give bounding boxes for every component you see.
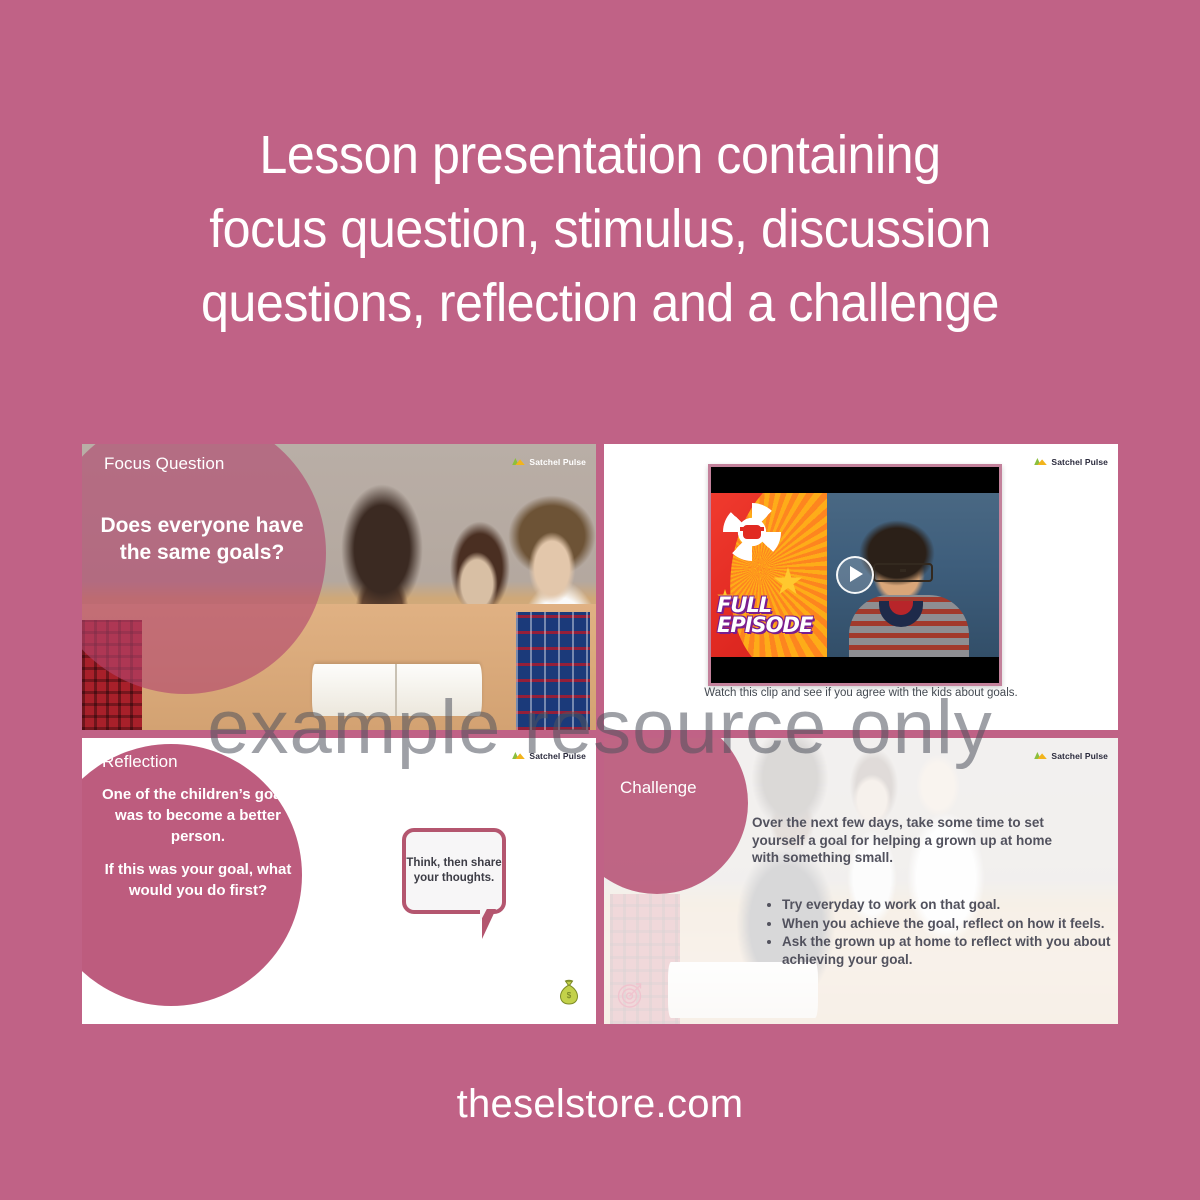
video-player[interactable]: FULL EPISODE bbox=[708, 464, 1002, 686]
footer-website-url: theselstore.com bbox=[0, 1082, 1200, 1127]
satchel-pulse-logo: Satchel Pulse bbox=[512, 747, 586, 765]
page-title: Lesson presentation containing focus que… bbox=[98, 118, 1102, 340]
satchel-pulse-logo: Satchel Pulse bbox=[1034, 747, 1108, 765]
speech-bubble-tail bbox=[482, 909, 496, 939]
letterbox-bottom bbox=[711, 657, 999, 683]
challenge-bullet-2: When you achieve the goal, reflect on ho… bbox=[782, 915, 1112, 933]
full-episode-badge: FULL EPISODE bbox=[711, 493, 827, 657]
challenge-bullet-3: Ask the grown up at home to reflect with… bbox=[782, 933, 1112, 968]
page-title-line-1: Lesson presentation containing bbox=[98, 118, 1102, 192]
satchel-pulse-logo: Satchel Pulse bbox=[1034, 453, 1108, 471]
reflection-paragraph-1: One of the children’s goals was to becom… bbox=[92, 784, 304, 847]
satchel-pulse-logo-text: Satchel Pulse bbox=[1051, 751, 1108, 761]
slide-stimulus[interactable]: FULL EPISODE Watch this clip and see if … bbox=[604, 444, 1118, 730]
mountains-icon bbox=[1034, 453, 1047, 471]
focus-question-text: Does everyone have the same goals? bbox=[98, 512, 306, 566]
reflection-text: One of the children’s goals was to becom… bbox=[92, 784, 304, 901]
slide-challenge[interactable]: Challenge Over the next few days, take s… bbox=[604, 738, 1118, 1024]
mountains-icon bbox=[512, 747, 525, 765]
cbc-gem-icon bbox=[723, 503, 781, 561]
plaid-skirt-right bbox=[516, 612, 590, 730]
slide-label-challenge: Challenge bbox=[620, 778, 697, 798]
money-bag-icon: $ bbox=[558, 979, 580, 1010]
speech-bubble: Think, then share your thoughts. bbox=[402, 828, 506, 914]
open-book bbox=[312, 664, 482, 716]
slide-focus-question[interactable]: Focus Question Does everyone have the sa… bbox=[82, 444, 596, 730]
stimulus-caption: Watch this clip and see if you agree wit… bbox=[604, 687, 1118, 699]
satchel-pulse-logo: Satchel Pulse bbox=[512, 453, 586, 471]
satchel-pulse-logo-text: Satchel Pulse bbox=[1051, 457, 1108, 467]
target-icon bbox=[616, 979, 646, 1014]
slide-reflection[interactable]: Reflection One of the children’s goals w… bbox=[82, 738, 596, 1024]
challenge-bullet-list: Try everyday to work on that goal. When … bbox=[762, 896, 1112, 969]
badge-line-1: FULL bbox=[717, 595, 827, 615]
page-title-line-2: focus question, stimulus, discussion bbox=[98, 192, 1102, 266]
svg-text:$: $ bbox=[567, 991, 572, 1000]
glasses-icon bbox=[873, 563, 933, 582]
satchel-pulse-logo-text: Satchel Pulse bbox=[529, 751, 586, 761]
open-book bbox=[668, 962, 818, 1018]
badge-line-2: EPISODE bbox=[717, 615, 827, 635]
slide-thumbnail-grid: Focus Question Does everyone have the sa… bbox=[82, 444, 1118, 1028]
letterbox-top bbox=[711, 467, 999, 493]
mountains-icon bbox=[512, 453, 525, 471]
page-title-line-3: questions, reflection and a challenge bbox=[98, 266, 1102, 340]
satchel-pulse-logo-text: Satchel Pulse bbox=[529, 457, 586, 467]
challenge-bullet-1: Try everyday to work on that goal. bbox=[782, 896, 1112, 914]
challenge-intro-text: Over the next few days, take some time t… bbox=[752, 814, 1082, 867]
slide-label-focus-question: Focus Question bbox=[104, 454, 224, 474]
reflection-paragraph-2: If this was your goal, what would you do… bbox=[92, 859, 304, 901]
speech-bubble-text: Think, then share your thoughts. bbox=[406, 856, 502, 886]
full-episode-text: FULL EPISODE bbox=[717, 595, 827, 635]
slide-label-reflection: Reflection bbox=[102, 752, 178, 772]
play-icon[interactable] bbox=[836, 556, 874, 594]
mountains-icon bbox=[1034, 747, 1047, 765]
